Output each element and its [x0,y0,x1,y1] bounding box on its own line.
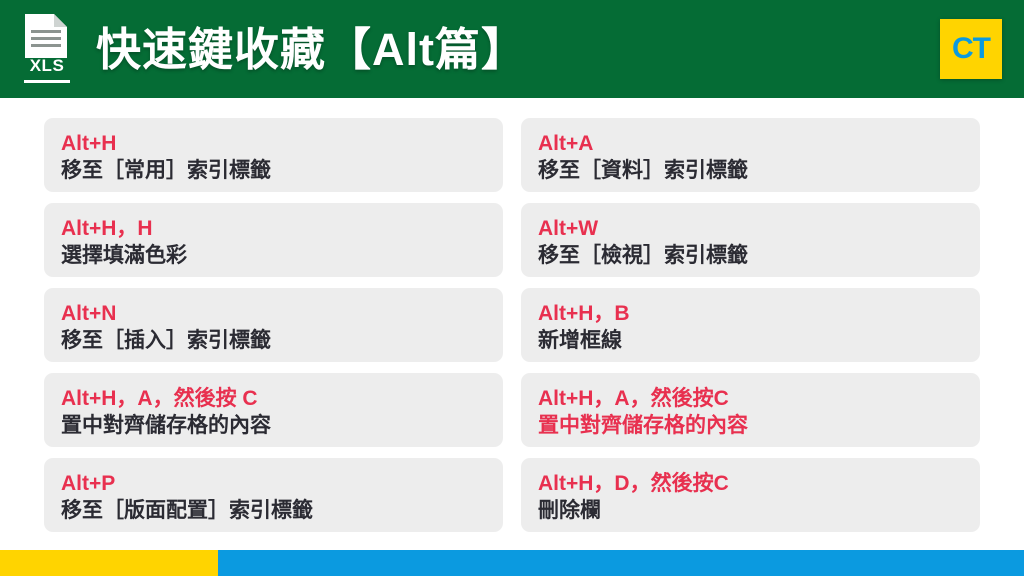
shortcut-description: 移至［插入］索引標籤 [61,327,487,355]
ct-logo-text: CT [952,34,990,64]
ct-logo: CT [940,19,1002,79]
footer-bar [0,550,1024,576]
shortcut-description: 新增框線 [538,327,964,355]
page-title: 快速鍵收藏【Alt篇】 [96,27,527,72]
left-column: Alt+H 移至［常用］索引標籤 Alt+H，H 選擇填滿色彩 Alt+N 移至… [44,118,503,540]
shortcut-description: 置中對齊儲存格的內容 [538,412,964,440]
document-glyph [25,14,67,58]
shortcut-description: 移至［資料］索引標籤 [538,157,964,185]
shortcut-key: Alt+W [538,216,964,242]
shortcut-card: Alt+H，A，然後按C 置中對齊儲存格的內容 [521,373,980,447]
xls-label: XLS [16,56,78,76]
shortcut-key: Alt+H，A，然後按C [538,386,964,412]
shortcut-card: Alt+H，H 選擇填滿色彩 [44,203,503,277]
shortcut-card: Alt+H，D，然後按C 刪除欄 [521,458,980,532]
shortcut-card: Alt+H，A，然後按 C 置中對齊儲存格的內容 [44,373,503,447]
shortcut-card: Alt+A 移至［資料］索引標籤 [521,118,980,192]
shortcut-card: Alt+H 移至［常用］索引標籤 [44,118,503,192]
shortcut-card: Alt+N 移至［插入］索引標籤 [44,288,503,362]
shortcut-key: Alt+N [61,301,487,327]
footer-yellow-segment [0,550,218,576]
xls-underline [24,80,70,83]
shortcut-grid: Alt+H 移至［常用］索引標籤 Alt+H，H 選擇填滿色彩 Alt+N 移至… [0,98,1024,540]
shortcut-key: Alt+P [61,471,487,497]
shortcut-description: 刪除欄 [538,497,964,525]
shortcut-description: 移至［版面配置］索引標籤 [61,497,487,525]
shortcut-key: Alt+H，H [61,216,487,242]
shortcut-key: Alt+H，D，然後按C [538,471,964,497]
right-column: Alt+A 移至［資料］索引標籤 Alt+W 移至［檢視］索引標籤 Alt+H，… [521,118,980,540]
xls-file-icon: XLS [16,10,78,88]
shortcut-key: Alt+H，B [538,301,964,327]
shortcut-description: 選擇填滿色彩 [61,242,487,270]
shortcut-key: Alt+H，A，然後按 C [61,386,487,412]
shortcut-card: Alt+W 移至［檢視］索引標籤 [521,203,980,277]
shortcut-description: 移至［常用］索引標籤 [61,157,487,185]
shortcut-key: Alt+A [538,131,964,157]
shortcut-description: 移至［檢視］索引標籤 [538,242,964,270]
shortcut-key: Alt+H [61,131,487,157]
shortcut-description: 置中對齊儲存格的內容 [61,412,487,440]
shortcut-card: Alt+P 移至［版面配置］索引標籤 [44,458,503,532]
footer-blue-segment [218,550,1024,576]
page-header: XLS 快速鍵收藏【Alt篇】 CT [0,0,1024,98]
shortcut-card: Alt+H，B 新增框線 [521,288,980,362]
